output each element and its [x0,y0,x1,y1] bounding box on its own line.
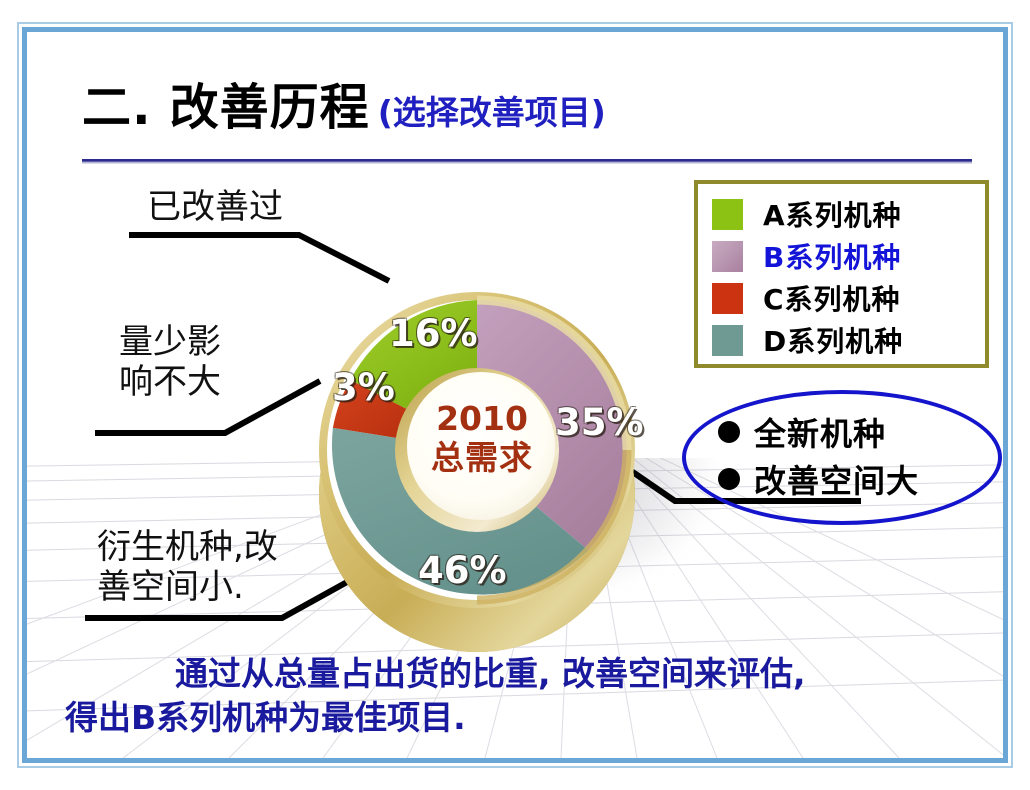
annotation-c-line1: 衍生机种,改 [97,527,278,567]
annotation-low-volume: 量少影 响不大 [119,322,221,402]
callout-text-1: 全新机种 [754,409,886,455]
annotation-c-line2: 善空间小. [97,567,244,607]
pct-label-d: 46% [418,549,507,592]
title-main-text: 二. 改善历程 [82,68,370,139]
conclusion-line-1: 通过从总量占出货的比重, 改善空间来评估, [65,652,970,696]
annotation-already-improved: 已改善过 [147,187,283,227]
slide-root: 二. 改善历程(选择改善项目) [0,0,1030,790]
legend-swatch-a-icon [712,199,743,230]
annotation-b-line1: 量少影 [119,322,221,362]
donut-center-caption: 总需求 [407,439,557,478]
bullet-dot-icon [718,468,740,490]
annotation-derivative-models: 衍生机种,改 善空间小. [97,527,278,607]
donut-center-year: 2010 [436,399,528,438]
legend-label-a: A系列机种 [763,194,902,234]
title-sub-text: (选择改善项目) [378,86,606,134]
pct-label-b: 35% [555,401,644,444]
legend-item-d[interactable]: D系列机种 [712,319,985,361]
chart-legend: A系列机种 B系列机种 C系列机种 D系列机种 [694,180,989,368]
legend-item-c[interactable]: C系列机种 [712,277,985,319]
page-title: 二. 改善历程(选择改善项目) [82,68,606,139]
slide-canvas: 二. 改善历程(选择改善项目) [27,32,1003,758]
legend-swatch-c-icon [712,283,743,314]
legend-swatch-d-icon [712,325,743,356]
callout-new-models: 全新机种 改善空间大 [682,390,1002,525]
legend-label-d: D系列机种 [763,320,903,360]
annotation-b-line2: 响不大 [119,362,221,402]
legend-swatch-b-icon [712,241,743,272]
callout-item-1: 全新机种 [718,408,919,455]
legend-label-b: B系列机种 [763,236,901,276]
callout-item-2: 改善空间大 [718,455,919,502]
callout-content: 全新机种 改善空间大 [718,408,919,502]
conclusion-line-2: 得出B系列机种为最佳项目. [65,696,970,740]
legend-item-a[interactable]: A系列机种 [712,193,985,235]
bullet-dot-icon [718,421,740,443]
callout-text-2: 改善空间大 [754,456,919,502]
legend-label-c: C系列机种 [763,278,901,318]
annotation-a-line1: 已改善过 [147,187,283,227]
legend-item-b[interactable]: B系列机种 [712,235,985,277]
donut-center-text: 2010 总需求 [407,400,557,478]
pct-label-c: 3% [332,366,395,409]
conclusion-text: 通过从总量占出货的比重, 改善空间来评估, 得出B系列机种为最佳项目. [65,652,970,739]
pct-label-a: 16% [389,312,478,355]
title-underline-rule [82,159,972,164]
